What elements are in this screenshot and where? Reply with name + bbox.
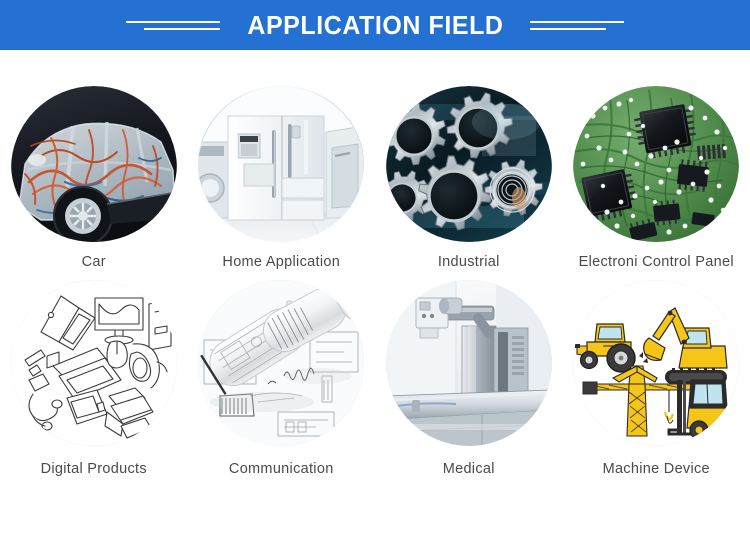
grid-item-electroni-control-panel[interactable]: Electroni Control Panel [563, 50, 750, 270]
grid-item-car[interactable]: Car [0, 50, 188, 270]
grid-item-machine-device[interactable]: Machine Device [563, 270, 750, 490]
grid-item-digital-products[interactable]: Digital Products [0, 270, 188, 490]
banner-inner: APPLICATION FIELD [126, 10, 625, 41]
metal-gears-photo [386, 86, 552, 242]
pcb-circuit-board-photo [573, 86, 739, 242]
application-field-page: APPLICATION FIELD [0, 0, 750, 543]
refrigerator-appliances-photo [198, 86, 364, 242]
caption-medical: Medical [443, 461, 495, 477]
section-banner: APPLICATION FIELD [0, 0, 750, 50]
right-rule-decoration [530, 21, 624, 30]
grid-item-medical[interactable]: Medical [375, 270, 563, 490]
caption-car: Car [82, 254, 106, 270]
caption-machine-device: Machine Device [603, 461, 710, 477]
application-grid: Car [0, 50, 750, 543]
caption-industrial: Industrial [438, 254, 500, 270]
grid-item-home-application[interactable]: Home Application [188, 50, 376, 270]
blueprint-rolls-photo [198, 280, 364, 446]
caption-electroni-control-panel: Electroni Control Panel [579, 254, 734, 270]
left-rule-decoration [126, 21, 220, 30]
xray-imaging-machine-photo [386, 280, 552, 446]
grid-item-industrial[interactable]: Industrial [375, 50, 563, 270]
construction-vehicles-illustration [573, 280, 739, 446]
caption-digital-products: Digital Products [41, 461, 147, 477]
grid-item-communication[interactable]: Communication [188, 270, 376, 490]
digital-devices-line-art [11, 280, 177, 446]
caption-communication: Communication [229, 461, 334, 477]
page-title: APPLICATION FIELD [247, 10, 503, 41]
caption-home-application: Home Application [222, 254, 340, 270]
car-wiring-harness-photo [11, 86, 177, 242]
